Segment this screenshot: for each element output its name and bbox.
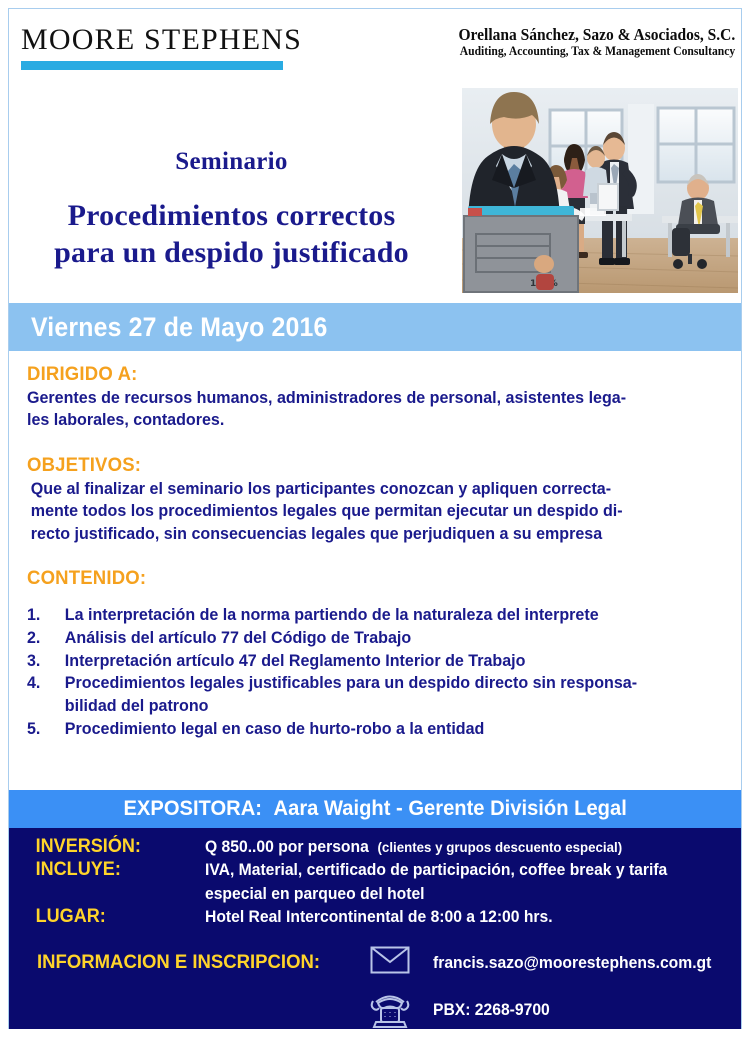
objetivos-line-3: recto justificado, sin consecuencias leg… [31, 523, 685, 545]
list-item-text: Interpretación artículo 47 del Reglament… [65, 650, 685, 673]
list-item-number: 2. [27, 627, 65, 650]
contenido-heading: CONTENIDO: [27, 567, 688, 590]
incluye-label: INCLUYE: [9, 859, 195, 881]
lugar-line: Hotel Real Intercontinental de 8:00 a 12… [205, 906, 553, 929]
list-item-line: Procedimiento legal en caso de hurto-rob… [65, 718, 685, 741]
objetivos-heading: OBJETIVOS: [27, 454, 688, 477]
page-title: Procedimientos correctos para un despido… [9, 198, 454, 271]
contact-values: francis.sazo@moorestephens.com.gt PBX: 2… [423, 946, 741, 1020]
objetivos-line-1: Que al finalizar el seminario los partic… [31, 478, 685, 500]
list-item-text: Procedimiento legal en caso de hurto-rob… [65, 718, 685, 741]
list-item-line: La interpretación de la norma partiendo … [65, 604, 685, 627]
firm-identity: Orellana Sánchez, Sazo & Asociados, S.C.… [439, 26, 735, 59]
inversion-row: INVERSIÓN: Q 850..00 por persona (client… [9, 836, 741, 859]
dirigido-heading: DIRIGIDO A: [27, 363, 688, 386]
objetivos-line-2: mente todos los procedimientos legales q… [31, 500, 685, 522]
telephone-icon [367, 988, 413, 1029]
contact-block: INFORMACION E INSCRIPCION: [9, 946, 741, 1029]
list-item-line: Análisis del artículo 77 del Código de T… [65, 627, 685, 650]
list-item-line: Procedimientos legales justificables par… [65, 672, 685, 695]
title-area: Seminario Procedimientos correctos para … [9, 86, 454, 298]
list-item-line: bilidad del patrono [65, 695, 685, 718]
inversion-value: Q 850..00 por persona (clientes y grupos… [205, 836, 622, 859]
expositora-value: Aara Waight - Gerente División Legal [273, 797, 626, 820]
dirigido-line-1: Gerentes de recursos humanos, administra… [27, 387, 685, 409]
seminar-kicker: Seminario [9, 148, 454, 176]
list-item-text: La interpretación de la norma partiendo … [65, 604, 685, 627]
lugar-row: LUGAR: Hotel Real Intercontinental de 8:… [9, 906, 741, 929]
list-item-number: 5. [27, 718, 65, 741]
footer-details: INVERSIÓN: Q 850..00 por persona (client… [9, 828, 741, 1029]
office-photo-illustration: 100% [462, 88, 738, 293]
section-objetivos: OBJETIVOS: Que al finalizar el seminario… [27, 454, 723, 545]
contact-label: INFORMACION E INSCRIPCION: [37, 946, 341, 974]
seminar-date: Viernes 27 de Mayo 2016 [31, 312, 328, 343]
expositora-line: EXPOSITORA:Aara Waight - Gerente Divisió… [123, 797, 626, 821]
title-line-2: para un despido justificado [9, 235, 454, 272]
inversion-note: (clientes y grupos descuento especial) [377, 839, 622, 855]
inversion-label: INVERSIÓN: [9, 836, 195, 858]
header: MOORE STEPHENS Orellana Sánchez, Sazo & … [9, 9, 741, 79]
incluye-line-2: especial en parqueo del hotel [205, 883, 667, 906]
objetivos-text: Que al finalizar el seminario los partic… [27, 478, 685, 545]
envelope-icon [370, 946, 410, 979]
list-item-line: Interpretación artículo 47 del Reglament… [65, 650, 685, 673]
list-item: 5. Procedimiento legal en caso de hurto-… [27, 718, 685, 741]
section-contenido: CONTENIDO: 1. La interpretación de la no… [27, 567, 723, 741]
section-dirigido: DIRIGIDO A: Gerentes de recursos humanos… [27, 363, 723, 432]
firm-subtitle: Auditing, Accounting, Tax & Management C… [460, 45, 735, 59]
date-banner: Viernes 27 de Mayo 2016 [9, 303, 741, 351]
lugar-value: Hotel Real Intercontinental de 8:00 a 12… [205, 906, 553, 929]
list-item-number: 1. [27, 604, 65, 627]
incluye-line-1: IVA, Material, certificado de participac… [205, 859, 667, 882]
title-line-1: Procedimientos correctos [68, 199, 396, 232]
incluye-row: INCLUYE: IVA, Material, certificado de p… [9, 859, 741, 906]
dirigido-text: Gerentes de recursos humanos, administra… [27, 387, 685, 432]
lugar-label: LUGAR: [9, 906, 195, 928]
list-item: 1. La interpretación de la norma partien… [27, 604, 685, 627]
dirigido-line-2: les laborales, contadores. [27, 409, 685, 431]
list-item: 4. Procedimientos legales justificables … [27, 672, 685, 718]
firm-name: Orellana Sánchez, Sazo & Asociados, S.C. [457, 26, 735, 43]
list-item: 3. Interpretación artículo 47 del Reglam… [27, 650, 685, 673]
office-photo: 100% [462, 88, 738, 293]
inversion-value-line: Q 850..00 por persona (clientes y grupos… [205, 836, 622, 859]
contenido-list: 1. La interpretación de la norma partien… [27, 604, 685, 741]
list-item-number: 4. [27, 672, 65, 718]
moore-stephens-logo: MOORE STEPHENS [21, 25, 306, 70]
list-item-text: Análisis del artículo 77 del Código de T… [65, 627, 685, 650]
logo-text: MOORE STEPHENS [21, 25, 306, 55]
expositora-bar: EXPOSITORA:Aara Waight - Gerente Divisió… [9, 790, 741, 828]
list-item: 2. Análisis del artículo 77 del Código d… [27, 627, 685, 650]
list-item-text: Procedimientos legales justificables par… [65, 672, 685, 718]
inversion-amount: Q 850..00 por persona [205, 838, 369, 856]
content-body: DIRIGIDO A: Gerentes de recursos humanos… [9, 351, 741, 790]
incluye-value: IVA, Material, certificado de participac… [205, 859, 667, 906]
seminar-flyer: MOORE STEPHENS Orellana Sánchez, Sazo & … [0, 0, 750, 1037]
contact-icon-column [357, 946, 423, 1029]
list-item-number: 3. [27, 650, 65, 673]
expositora-label: EXPOSITORA: [123, 797, 262, 820]
contact-email[interactable]: francis.sazo@moorestephens.com.gt [433, 946, 726, 973]
logo-accent-rule [21, 61, 283, 70]
contact-phone: PBX: 2268-9700 [433, 973, 726, 1020]
